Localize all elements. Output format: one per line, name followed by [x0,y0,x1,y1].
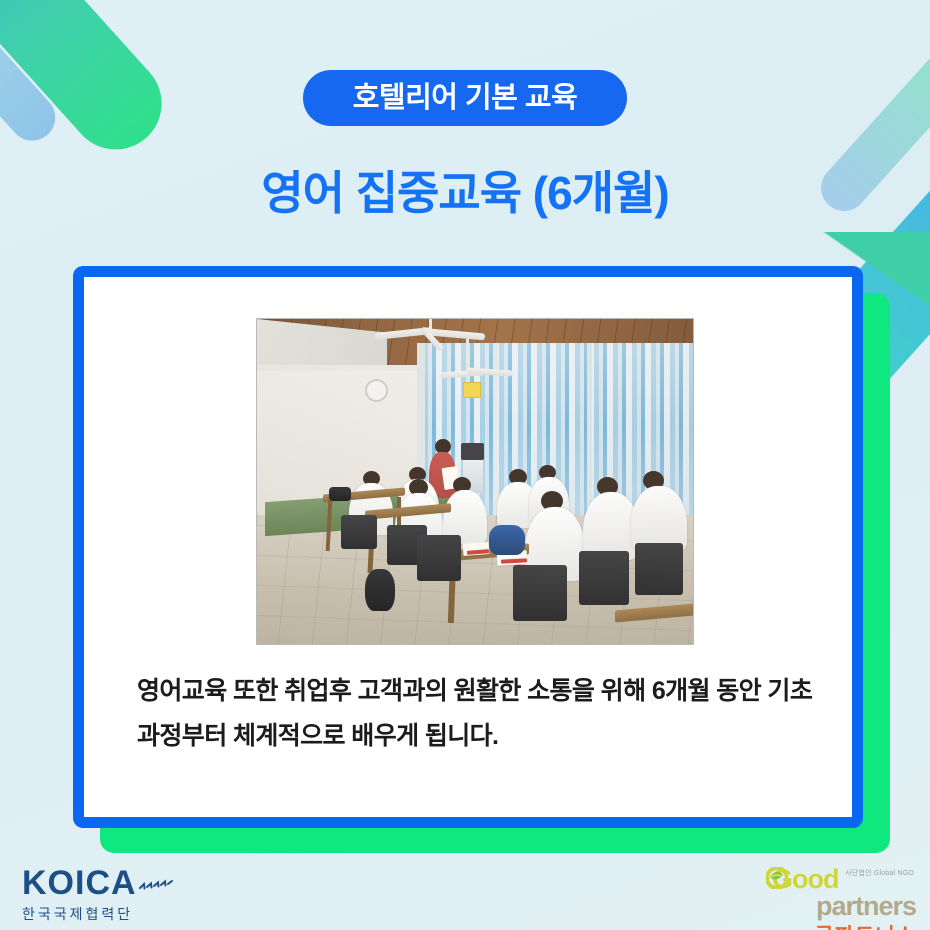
good-partners-logo: Good 사단법인 Global NGO partners 굿파트너스 [764,866,916,930]
koica-subtitle: 한국국제협력단 [22,907,212,921]
koica-swoosh-icon [137,878,175,899]
koica-wordmark: KOICA [22,866,137,900]
page-title: 영어 집중교육 (6개월) [0,166,930,221]
good-partners-partners: partners [764,893,916,920]
content-card: 영어교육 또한 취업후 고객과의 원활한 소통을 위해 6개월 동안 기초과정부… [73,266,863,828]
section-badge: 호텔리어 기본 교육 [303,70,627,126]
good-partners-korean: 굿파트너스 [764,926,916,930]
section-badge-label: 호텔리어 기본 교육 [353,84,578,113]
koica-logo: KOICA 한국국제협력단 [22,866,212,921]
good-partners-tagline: 사단법인 Global NGO [845,870,914,877]
photo-overlay [257,319,693,644]
leaf-icon [766,867,788,894]
card-caption: 영어교육 또한 취업후 고객과의 원활한 소통을 위해 6개월 동안 기초과정부… [137,669,827,758]
promo-card-page: 호텔리어 기본 교육 영어 집중교육 (6개월) [0,0,930,930]
classroom-photo [256,318,694,645]
good-partners-good-row: Good 사단법인 Global NGO [764,866,916,892]
